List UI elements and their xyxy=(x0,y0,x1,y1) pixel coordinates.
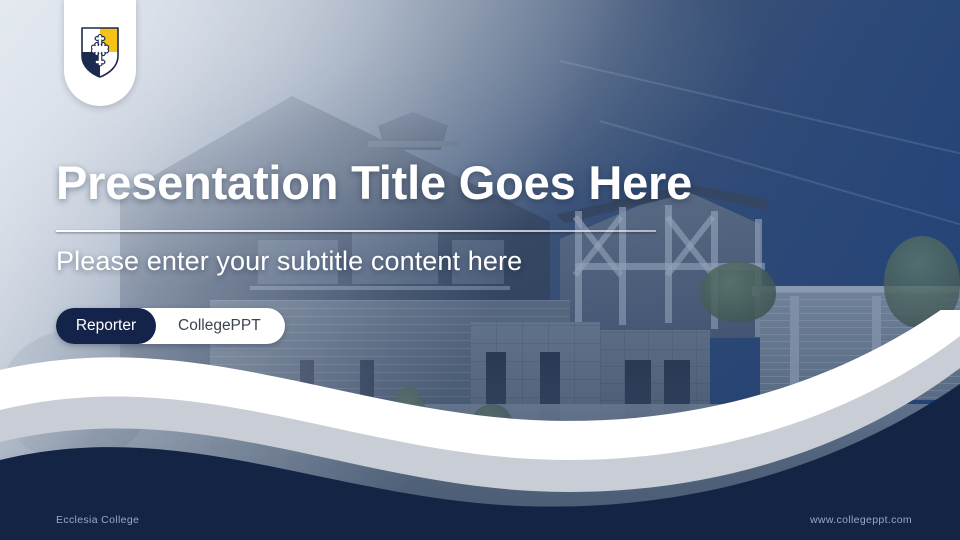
slide-subtitle: Please enter your subtitle content here xyxy=(56,246,522,277)
presentation-slide: Presentation Title Goes Here Please ente… xyxy=(0,0,960,540)
footer-institution: Ecclesia College xyxy=(56,514,139,526)
wave-decoration xyxy=(0,310,960,540)
footer-website[interactable]: www.collegeppt.com xyxy=(810,514,912,526)
reporter-pill[interactable]: Reporter CollegePPT xyxy=(56,308,285,344)
title-divider xyxy=(56,230,656,232)
ecclesia-college-shield-icon xyxy=(78,24,122,80)
building-window-band xyxy=(250,286,510,290)
building-cupola-eave xyxy=(368,141,460,147)
college-logo-tab xyxy=(64,0,136,106)
reporter-label: Reporter xyxy=(56,308,156,344)
reporter-value: CollegePPT xyxy=(156,317,285,335)
slide-title: Presentation Title Goes Here xyxy=(56,157,876,210)
